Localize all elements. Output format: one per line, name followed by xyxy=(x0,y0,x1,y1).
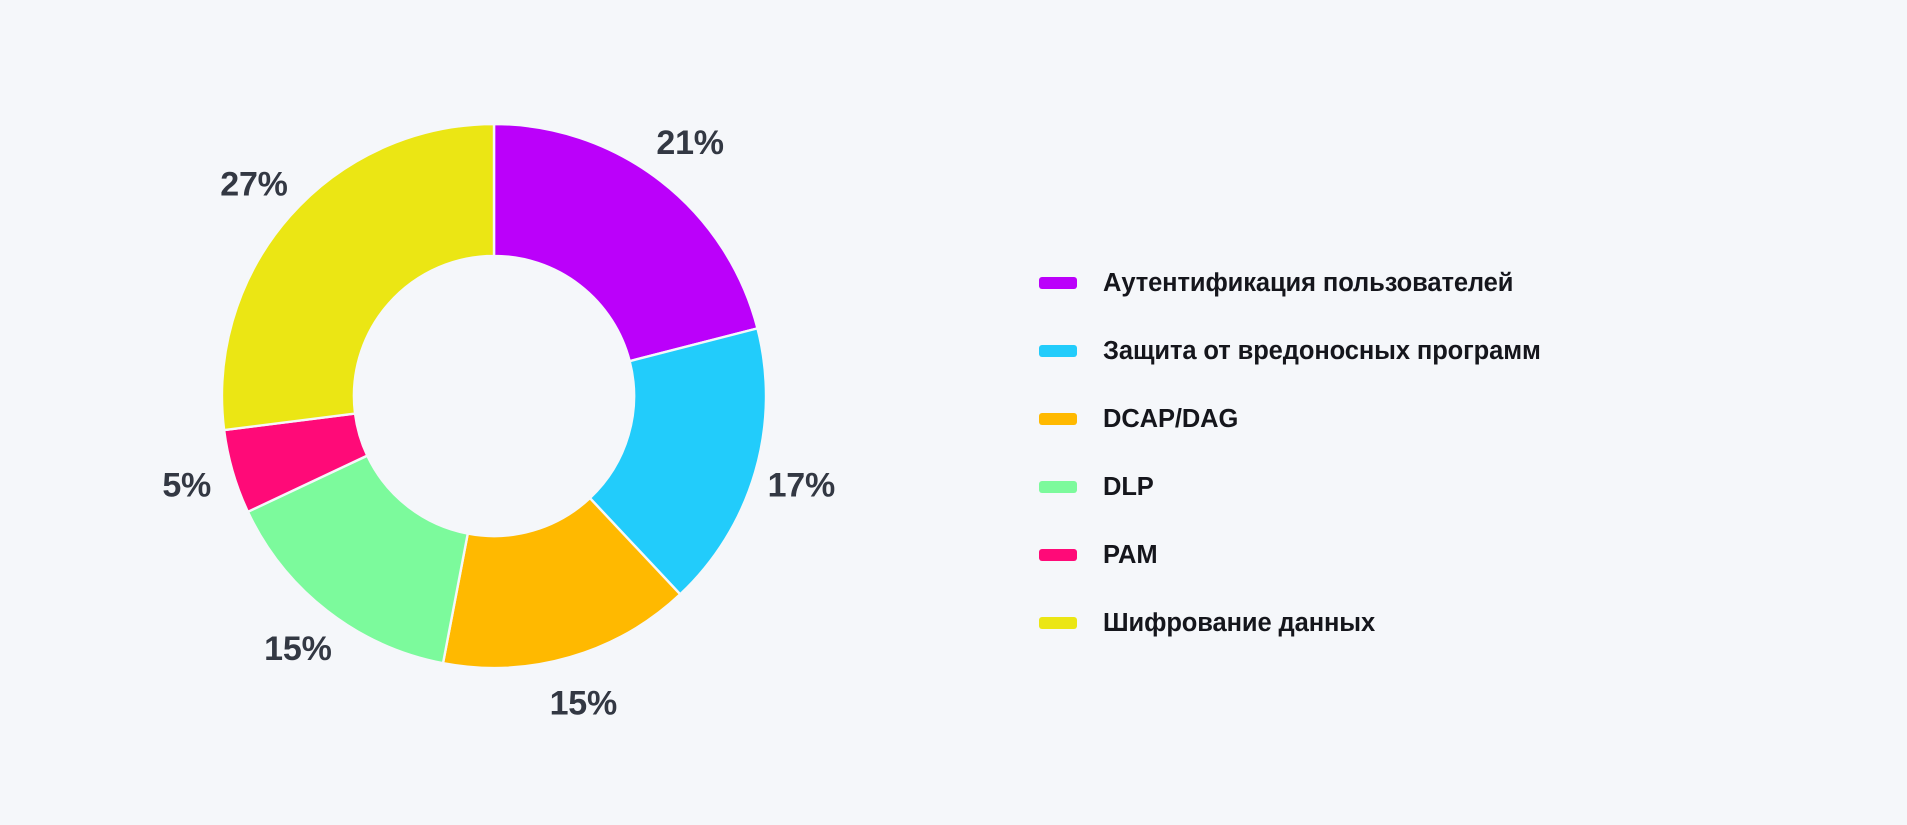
legend-item-malware-protection[interactable]: Защита от вредоносных программ xyxy=(1039,317,1739,385)
donut-slice-value-label: 17% xyxy=(768,466,835,504)
donut-chart-svg: 21%17%15%15%5%27% xyxy=(0,0,1000,825)
donut-chart-plot-area: 21%17%15%15%5%27% xyxy=(0,0,1000,825)
legend-swatch-icon xyxy=(1039,549,1077,561)
legend-item-label: Шифрование данных xyxy=(1103,609,1375,638)
legend-item-label: Аутентификация пользователей xyxy=(1103,269,1513,298)
legend-swatch-icon xyxy=(1039,413,1077,425)
donut-slice-value-label: 5% xyxy=(162,466,211,504)
donut-slice-value-label: 21% xyxy=(656,124,723,162)
legend-swatch-icon xyxy=(1039,617,1077,629)
legend-item-label: DCAP/DAG xyxy=(1103,405,1238,434)
legend-item-label: Защита от вредоносных программ xyxy=(1103,337,1541,366)
legend-item-dcap-dag[interactable]: DCAP/DAG xyxy=(1039,385,1739,453)
legend-swatch-icon xyxy=(1039,481,1077,493)
legend-swatch-icon xyxy=(1039,345,1077,357)
legend-swatch-icon xyxy=(1039,277,1077,289)
legend-item-dlp[interactable]: DLP xyxy=(1039,453,1739,521)
legend-item-pam[interactable]: PAM xyxy=(1039,521,1739,589)
donut-slice-value-label: 15% xyxy=(550,684,617,722)
legend-item-label: DLP xyxy=(1103,473,1154,502)
donut-slice-value-label: 27% xyxy=(220,165,287,203)
donut-chart-figure: 21%17%15%15%5%27% Аутентификация пользов… xyxy=(0,0,1907,825)
donut-slices-group xyxy=(222,124,766,668)
donut-slice-value-label: 15% xyxy=(264,630,331,668)
legend-item-authentication[interactable]: Аутентификация пользователей xyxy=(1039,249,1739,317)
legend-item-label: PAM xyxy=(1103,541,1157,570)
chart-legend: Аутентификация пользователей Защита от в… xyxy=(1039,249,1739,657)
legend-item-data-encryption[interactable]: Шифрование данных xyxy=(1039,589,1739,657)
